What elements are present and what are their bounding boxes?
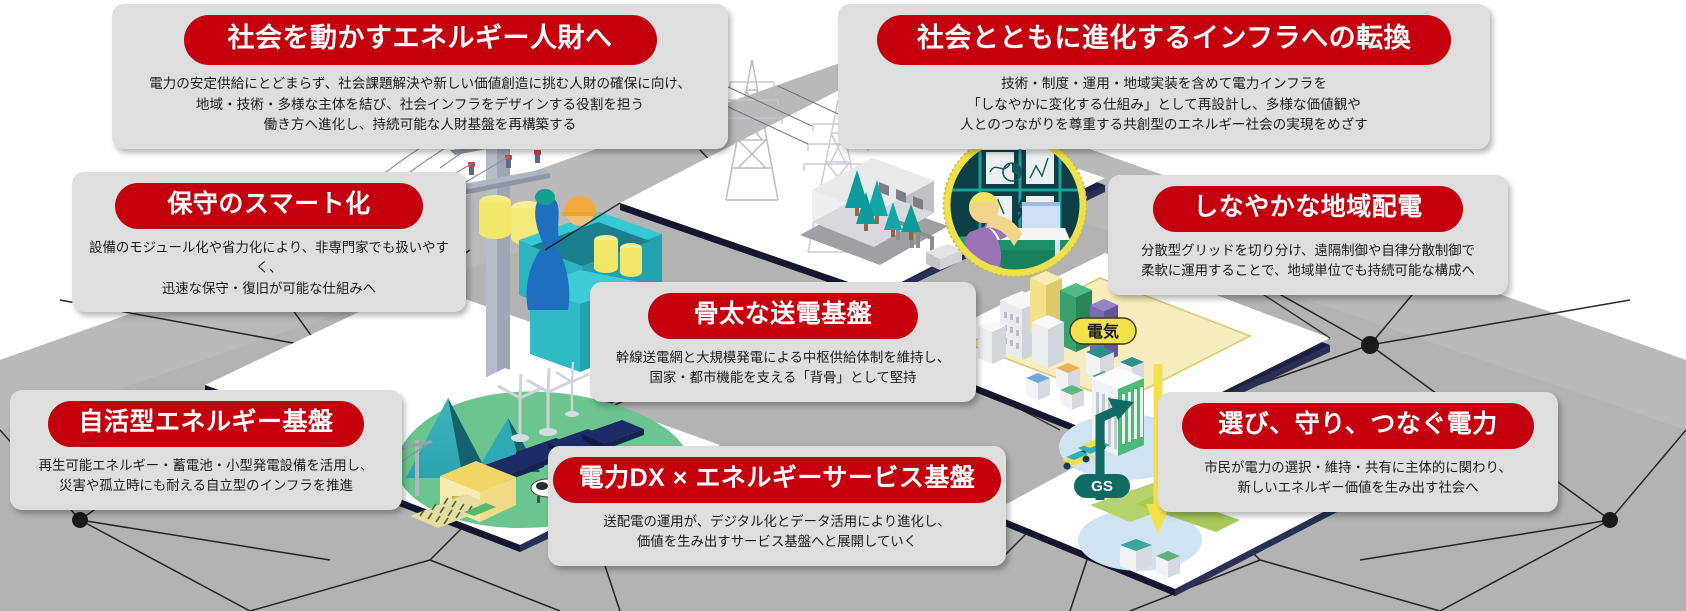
card-body-human-resources: 電力の安定供給にとどまらず、社会課題解決や新しい価値創造に挑む人財の確保に向け、…	[112, 74, 728, 136]
svg-text:電気: 電気	[1087, 322, 1119, 341]
callout-card-smart-maintenance[interactable]: 保守のスマート化 設備のモジュール化や省力化により、非専門家でも扱いやすく、 迅…	[72, 172, 466, 312]
callout-card-self-sustaining-energy[interactable]: 自活型エネルギー基盤 再生可能エネルギー・蓄電池・小型発電設備を活用し、 災害や…	[10, 390, 402, 510]
infographic-canvas: GS 電気 社会を動かすエネルギー人財へ 電力の安定供給にとどまらず、社会課題解…	[0, 0, 1686, 611]
pill-wrap: 電力DX × エネルギーサービス基盤	[548, 446, 1006, 512]
pill-wrap: 自活型エネルギー基盤	[10, 390, 402, 456]
pill-wrap: 保守のスマート化	[72, 172, 466, 238]
card-title-choose-protect-connect: 選び、守り、つなぐ電力	[1182, 403, 1534, 449]
callout-card-robust-transmission[interactable]: 骨太な送電基盤 幹線送電網と大規模発電による中枢供給体制を維持し、 国家・都市機…	[590, 282, 976, 402]
card-body-infra-transformation: 技術・制度・運用・地域実装を含めて電力インフラを 「しなやかに変化する仕組み」と…	[838, 74, 1490, 136]
svg-text:GS: GS	[1091, 478, 1113, 495]
gas-station-tag: GS	[1074, 474, 1130, 498]
card-title-infra-transformation: 社会とともに進化するインフラへの転換	[877, 15, 1451, 65]
callout-card-infra-transformation[interactable]: 社会とともに進化するインフラへの転換 技術・制度・運用・地域実装を含めて電力イン…	[838, 4, 1490, 149]
callout-card-power-dx-service[interactable]: 電力DX × エネルギーサービス基盤 送配電の運用が、デジタル化とデータ活用によ…	[548, 446, 1006, 566]
callout-card-flexible-local-distribution[interactable]: しなやかな地域配電 分散型グリッドを切り分け、遠隔制御や自律分散制御で 柔軟に運…	[1108, 175, 1508, 295]
card-body-power-dx-service: 送配電の運用が、デジタル化とデータ活用により進化し、 価値を生み出すサービス基盤…	[548, 512, 1006, 553]
pill-wrap: 社会を動かすエネルギー人財へ	[112, 4, 728, 74]
pill-wrap: 骨太な送電基盤	[590, 282, 976, 348]
card-title-human-resources: 社会を動かすエネルギー人財へ	[184, 15, 657, 65]
card-title-self-sustaining-energy: 自活型エネルギー基盤	[48, 401, 363, 447]
card-body-robust-transmission: 幹線送電網と大規模発電による中枢供給体制を維持し、 国家・都市機能を支える「背骨…	[590, 348, 976, 389]
card-body-self-sustaining-energy: 再生可能エネルギー・蓄電池・小型発電設備を活用し、 災害や孤立時にも耐える自立型…	[10, 456, 402, 497]
card-title-power-dx-service: 電力DX × エネルギーサービス基盤	[553, 457, 1002, 503]
card-body-choose-protect-connect: 市民が電力の選択・維持・共有に主体的に関わり、 新しいエネルギー価値を生み出す社…	[1158, 458, 1558, 499]
card-title-smart-maintenance: 保守のスマート化	[115, 183, 422, 229]
pill-wrap: しなやかな地域配電	[1108, 175, 1508, 241]
electricity-tag: 電気	[1070, 318, 1136, 344]
pill-wrap: 選び、守り、つなぐ電力	[1158, 392, 1558, 458]
pill-wrap: 社会とともに進化するインフラへの転換	[838, 4, 1490, 74]
card-body-smart-maintenance: 設備のモジュール化や省力化により、非専門家でも扱いやすく、 迅速な保守・復旧が可…	[72, 238, 466, 299]
card-title-flexible-local-distribution: しなやかな地域配電	[1153, 186, 1463, 232]
card-title-robust-transmission: 骨太な送電基盤	[648, 293, 919, 339]
callout-card-choose-protect-connect[interactable]: 選び、守り、つなぐ電力 市民が電力の選択・維持・共有に主体的に関わり、 新しいエ…	[1158, 392, 1558, 512]
card-body-flexible-local-distribution: 分散型グリッドを切り分け、遠隔制御や自律分散制御で 柔軟に運用することで、地域単…	[1108, 241, 1508, 282]
callout-card-human-resources[interactable]: 社会を動かすエネルギー人財へ 電力の安定供給にとどまらず、社会課題解決や新しい価…	[112, 4, 728, 149]
